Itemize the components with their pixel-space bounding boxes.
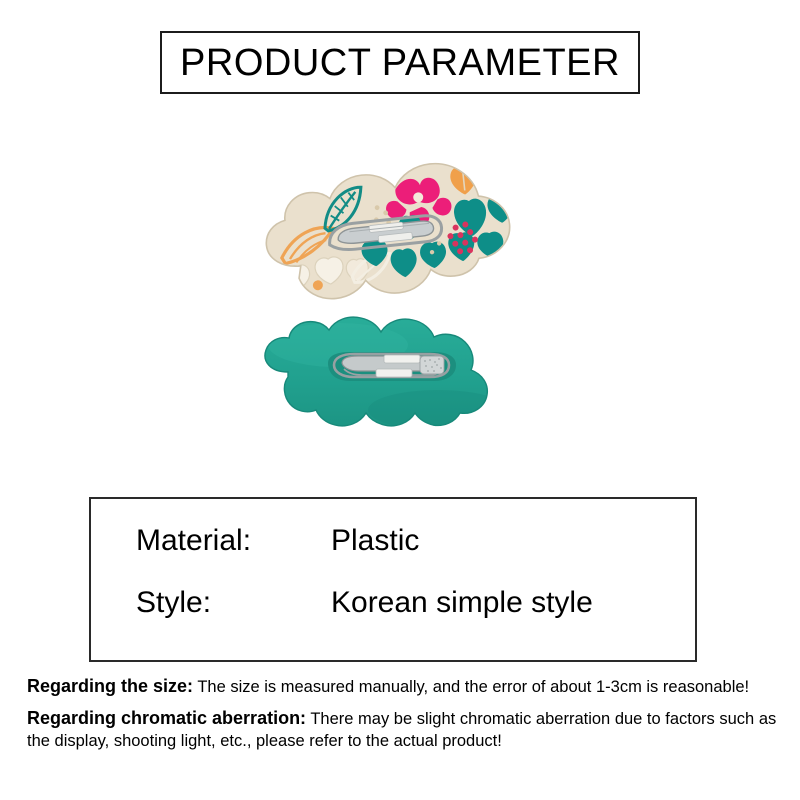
param-row-style: Style: Korean simple style bbox=[136, 586, 685, 619]
param-row-material: Material: Plastic bbox=[136, 524, 685, 557]
note-chromatic-aberration: Regarding chromatic aberration: There ma… bbox=[27, 707, 779, 753]
param-label-material: Material: bbox=[136, 524, 331, 557]
param-value-style: Korean simple style bbox=[331, 586, 593, 619]
note-size-heading: Regarding the size: bbox=[27, 676, 193, 696]
param-value-material: Plastic bbox=[331, 524, 419, 557]
floral-hair-clip-image bbox=[243, 151, 526, 318]
param-label-style: Style: bbox=[136, 586, 331, 619]
product-parameter-box: Material: Plastic Style: Korean simple s… bbox=[89, 497, 697, 662]
note-size-body: The size is measured manually, and the e… bbox=[193, 678, 749, 696]
teal-hair-clip-image bbox=[258, 315, 503, 430]
page-title: PRODUCT PARAMETER bbox=[180, 44, 620, 82]
product-image-area bbox=[0, 140, 800, 470]
page-title-box: PRODUCT PARAMETER bbox=[160, 31, 640, 94]
footer-notes: Regarding the size: The size is measured… bbox=[27, 675, 779, 760]
snap-clip-hardware bbox=[334, 354, 449, 377]
note-size: Regarding the size: The size is measured… bbox=[27, 675, 779, 699]
note-chromatic-heading: Regarding chromatic aberration: bbox=[27, 708, 306, 728]
